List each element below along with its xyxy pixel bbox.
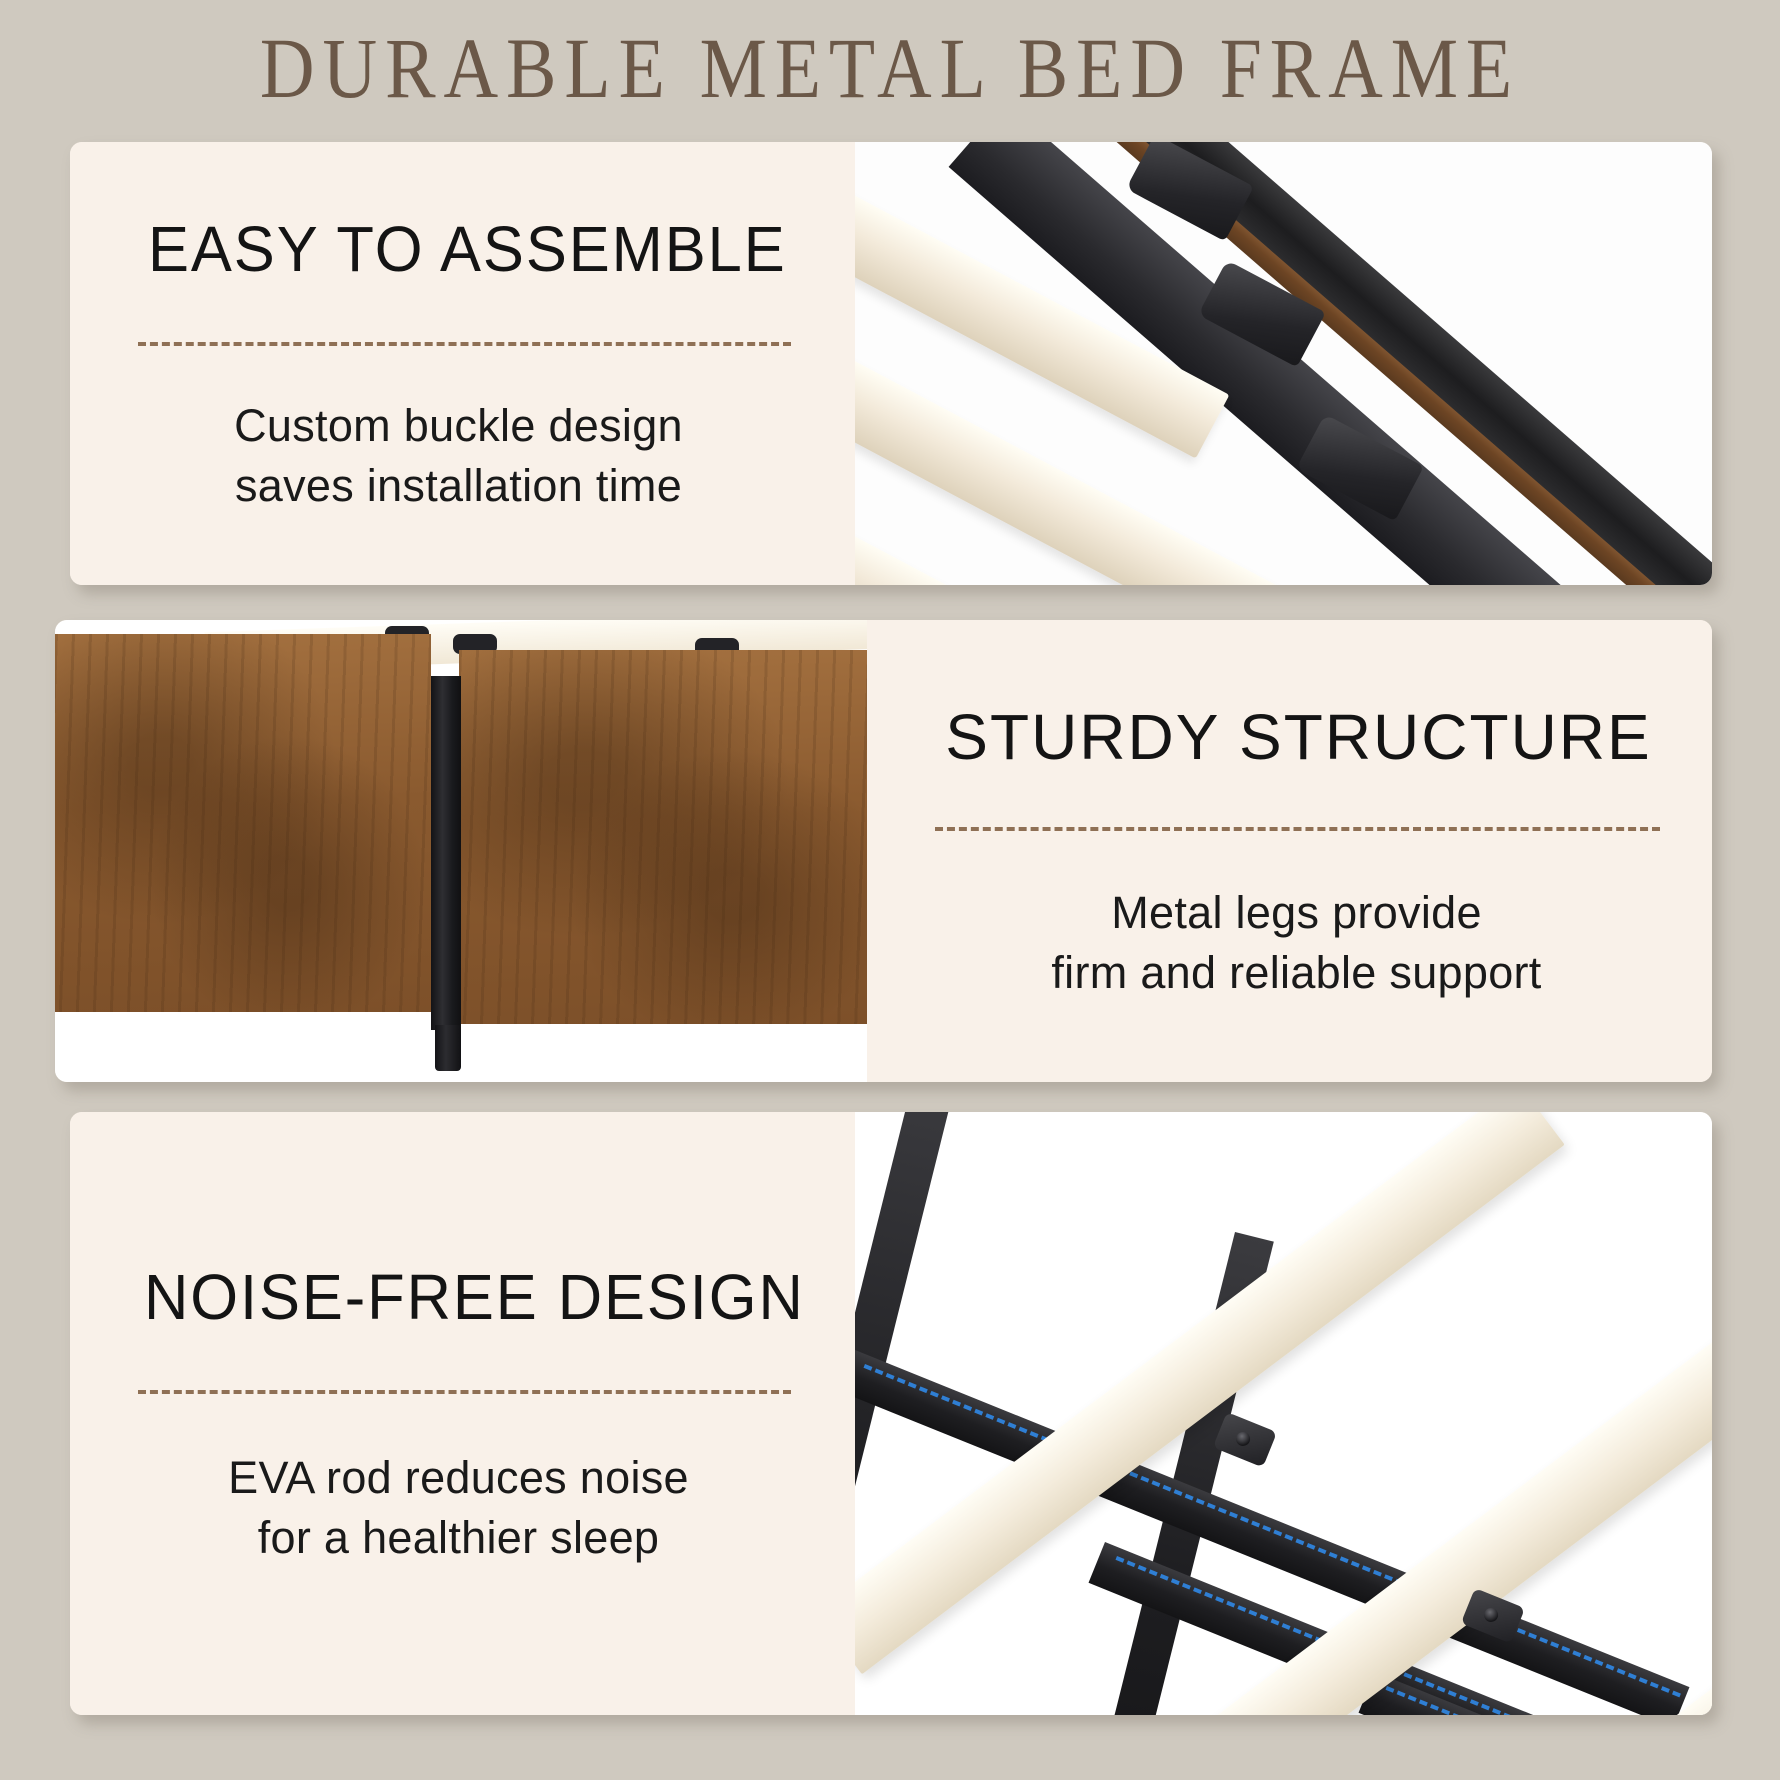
feature-body-line-1: EVA rod reduces noise (138, 1448, 779, 1508)
wood-panel-left (55, 634, 431, 1012)
feature-text-pane: NOISE-FREE DESIGN EVA rod reduces noise … (70, 1112, 855, 1715)
dashed-divider (138, 1390, 791, 1394)
feature-body-line-2: for a healthier sleep (138, 1508, 779, 1568)
feature-photo-slats-buckle (855, 142, 1712, 585)
wood-panel-right (459, 650, 867, 1024)
feature-text-pane: STURDY STRUCTURE Metal legs provide firm… (867, 620, 1712, 1082)
feature-card-noise-free-design: NOISE-FREE DESIGN EVA rod reduces noise … (70, 1112, 1712, 1715)
feature-body-line-2: saves installation time (138, 456, 779, 516)
feature-body-line-1: Custom buckle design (138, 396, 779, 456)
metal-corner-post (431, 676, 461, 1030)
slat-clamp (1213, 1412, 1277, 1467)
metal-leg (435, 1025, 461, 1071)
feature-photo-eva-rod (855, 1112, 1712, 1715)
dashed-divider (138, 342, 791, 346)
page-title: DURABLE METAL BED FRAME (107, 18, 1673, 118)
feature-title: STURDY STRUCTURE (925, 699, 1672, 775)
feature-body: Metal legs provide firm and reliable sup… (935, 883, 1658, 1003)
feature-card-sturdy-structure: STURDY STRUCTURE Metal legs provide firm… (55, 620, 1712, 1082)
feature-text-pane: EASY TO ASSEMBLE Custom buckle design sa… (70, 142, 855, 585)
feature-body-line-2: firm and reliable support (935, 943, 1658, 1003)
feature-title: NOISE-FREE DESIGN (144, 1260, 782, 1334)
feature-body-line-1: Metal legs provide (935, 883, 1658, 943)
feature-title: EASY TO ASSEMBLE (148, 212, 783, 286)
dashed-divider (935, 827, 1660, 831)
feature-body: Custom buckle design saves installation … (138, 396, 779, 516)
feature-body: EVA rod reduces noise for a healthier sl… (138, 1448, 779, 1568)
feature-card-easy-to-assemble: EASY TO ASSEMBLE Custom buckle design sa… (70, 142, 1712, 585)
feature-photo-wood-corner (55, 620, 867, 1082)
